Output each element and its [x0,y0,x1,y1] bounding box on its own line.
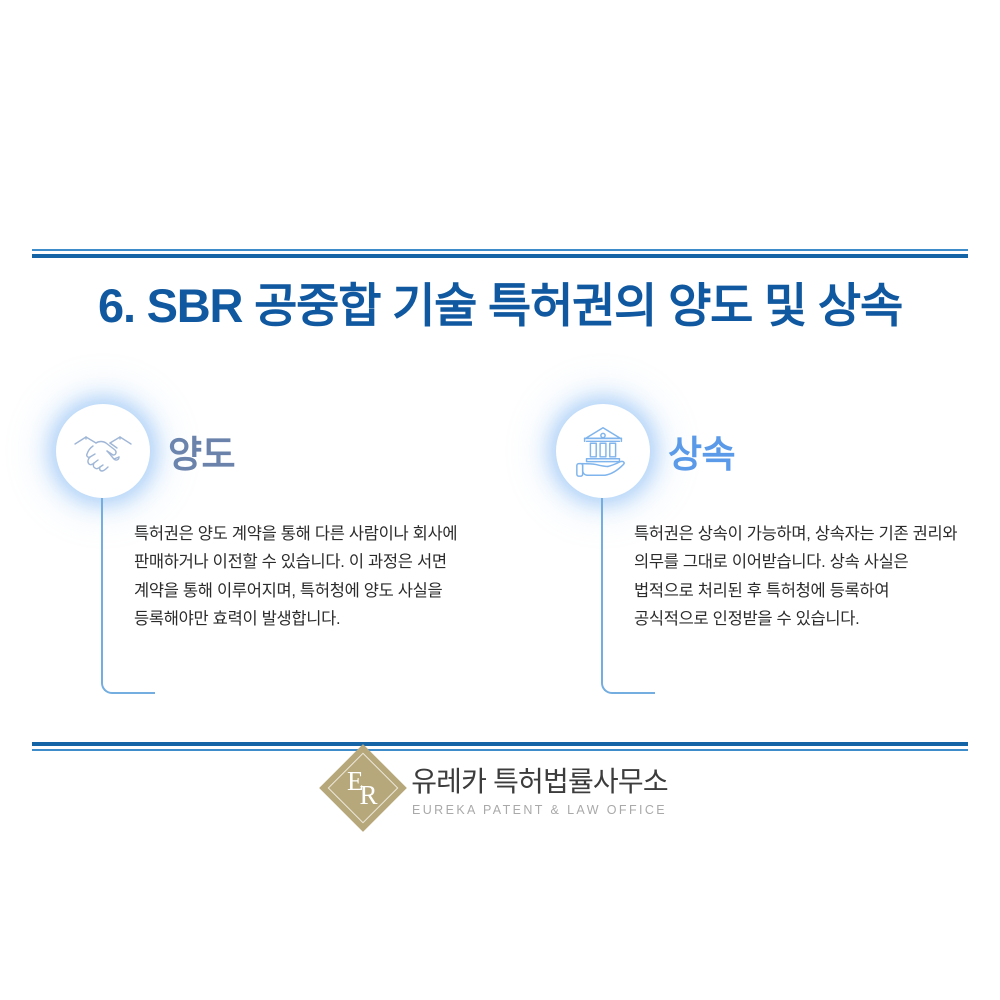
card-sangsok-heading: 상속 [668,424,735,478]
card-sangsok-body: 특허권은 상속이 가능하며, 상속자는 기존 권리와 의무를 그대로 이어받습니… [634,520,958,634]
logo-monogram: E R [332,757,394,819]
divider-bottom [32,742,968,751]
footer-logo-text: 유레카 특허법률사무소 EUREKA PATENT & LAW OFFICE [411,760,668,817]
card-sangsok: 상속 특허권은 상속이 가능하며, 상속자는 기존 권리와 의무를 그대로 이어… [500,404,1000,634]
footer-logo: E R 유레카 특허법률사무소 EUREKA PATENT & LAW OFFI… [0,757,1000,819]
handshake-icon [56,404,150,498]
logo-monogram-r: R [359,780,377,811]
card-sangsok-header: 상속 [556,404,1000,498]
divider-bottom-thin-line [32,749,968,751]
card-row: 양도 특허권은 양도 계약을 통해 다른 사람이나 회사에 판매하거나 이전할 … [0,404,1000,634]
card-yangdo: 양도 특허권은 양도 계약을 통해 다른 사람이나 회사에 판매하거나 이전할 … [0,404,500,634]
firm-name-en: EUREKA PATENT & LAW OFFICE [411,803,668,817]
eureka-diamond-logo-icon: E R [332,757,394,819]
divider-top-thick-line [32,254,968,258]
card-yangdo-header: 양도 [56,404,500,498]
slide-canvas: 6. SBR 공중합 기술 특허권의 양도 및 상속 [0,0,1000,1000]
page-title: 6. SBR 공중합 기술 특허권의 양도 및 상속 [0,278,1000,334]
firm-name-ko: 유레카 특허법률사무소 [411,760,668,800]
hand-holding-bank-icon [556,404,650,498]
card-yangdo-heading: 양도 [168,424,235,478]
page-title-container: 6. SBR 공중합 기술 특허권의 양도 및 상속 [0,278,1000,334]
divider-top [32,249,968,258]
card-yangdo-body: 특허권은 양도 계약을 통해 다른 사람이나 회사에 판매하거나 이전할 수 있… [134,520,458,634]
